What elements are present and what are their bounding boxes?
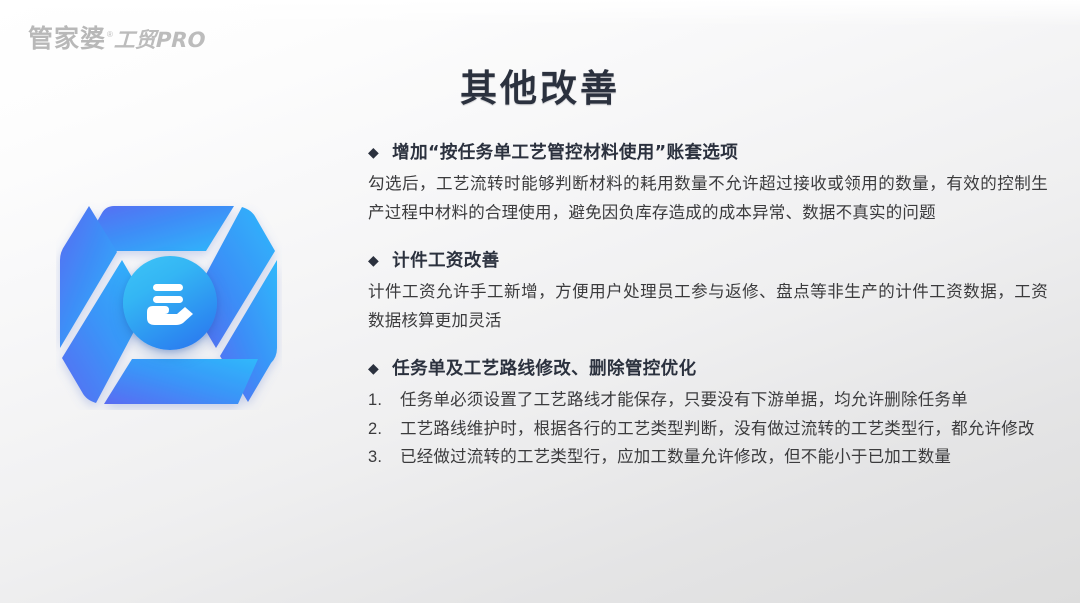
numbered-list: 1. 任务单必须设置了工艺路线才能保存，只要没有下游单据，均允许删除任务单 2.… [368,386,1048,471]
brand-logo: 管家婆 ® 工贸PRO [28,26,205,51]
diamond-bullet-icon: ◆ [368,146,379,160]
spacer [368,231,1048,248]
section-heading: ◆ 增加“按任务单工艺管控材料使用”账套选项 [368,140,1048,166]
list-item: 2. 工艺路线维护时，根据各行的工艺类型判断，没有做过流转的工艺类型行，都允许修… [368,415,1048,443]
slide-canvas: 管家婆 ® 工贸PRO 其他改善 [0,0,1080,603]
brand-name-cn: 管家婆 [28,26,106,51]
list-item-number: 2. [368,415,394,443]
diamond-bullet-icon: ◆ [368,362,379,376]
section-task-route-control: ◆ 任务单及工艺路线修改、删除管控优化 1. 任务单必须设置了工艺路线才能保存，… [368,356,1048,471]
brand-name-en: 工贸PRO [114,30,206,51]
spacer [368,339,1048,356]
list-item: 1. 任务单必须设置了工艺路线才能保存，只要没有下游单据，均允许删除任务单 [368,386,1048,414]
section-material-control: ◆ 增加“按任务单工艺管控材料使用”账套选项 勾选后，工艺流转时能够判断材料的耗… [368,140,1048,227]
list-item: 3. 已经做过流转的工艺类型行，应加工数量允许修改，但不能小于已加工数量 [368,443,1048,471]
center-badge [123,256,217,350]
section-heading-text: 任务单及工艺路线修改、删除管控优化 [392,356,696,382]
registered-trademark-icon: ® [107,31,113,39]
section-body-text: 勾选后，工艺流转时能够判断材料的耗用数量不允许超过接收或领用的数量，有效的控制生… [368,170,1048,227]
hand-holding-document-icon [123,256,217,350]
page-title: 其他改善 [0,58,1080,112]
section-heading-text: 增加“按任务单工艺管控材料使用”账套选项 [392,140,738,166]
section-heading: ◆ 计件工资改善 [368,248,1048,274]
section-heading: ◆ 任务单及工艺路线修改、删除管控优化 [368,356,1048,382]
list-item-text: 任务单必须设置了工艺路线才能保存，只要没有下游单据，均允许删除任务单 [400,390,968,409]
list-item-text: 已经做过流转的工艺类型行，应加工数量允许修改，但不能小于已加工数量 [400,447,951,466]
hexagon-aperture-graphic [56,198,282,410]
list-item-text: 工艺路线维护时，根据各行的工艺类型判断，没有做过流转的工艺类型行，都允许修改 [400,419,1035,438]
list-item-number: 3. [368,443,394,471]
section-body-text: 计件工资允许手工新增，方便用户处理员工参与返修、盘点等非生产的计件工资数据，工资… [368,278,1048,335]
section-piecework-wage: ◆ 计件工资改善 计件工资允许手工新增，方便用户处理员工参与返修、盘点等非生产的… [368,248,1048,335]
diamond-bullet-icon: ◆ [368,254,379,268]
section-heading-text: 计件工资改善 [392,248,499,274]
list-item-number: 1. [368,386,394,414]
content-column: ◆ 增加“按任务单工艺管控材料使用”账套选项 勾选后，工艺流转时能够判断材料的耗… [368,140,1048,475]
